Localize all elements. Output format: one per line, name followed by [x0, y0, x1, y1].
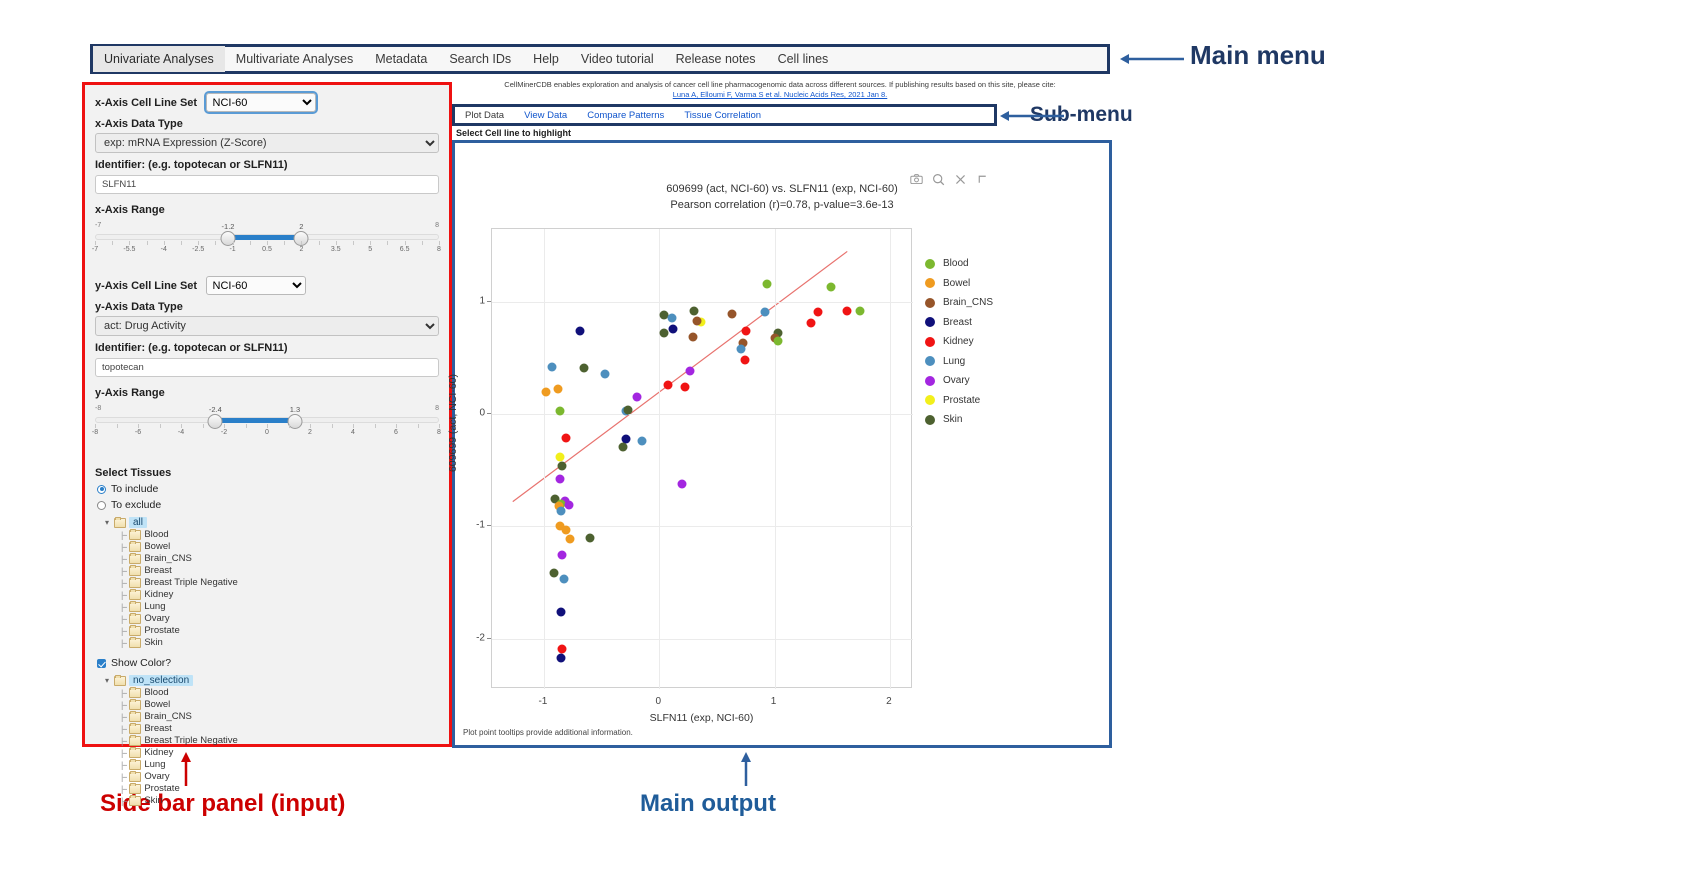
scatter-point[interactable]: [814, 308, 823, 317]
legend-item-breast[interactable]: Breast: [925, 317, 993, 328]
slider-scale-label: -4: [161, 246, 167, 253]
plot-title: 609699 (act, NCI-60) vs. SLFN11 (exp, NC…: [455, 183, 1109, 195]
slider-scale-label: 0.5: [262, 246, 272, 253]
legend-color-dot: [925, 415, 935, 425]
scatter-point[interactable]: [565, 501, 574, 510]
scatter-point[interactable]: [542, 387, 551, 396]
tree-node-label: Ovary: [144, 613, 169, 625]
y-axis-tick-label: -2: [455, 632, 485, 643]
slider-tickmark: [181, 424, 182, 428]
submenu-item-tissue-correlation[interactable]: Tissue Correlation: [674, 110, 771, 121]
y-axis-tick-label: -1: [455, 520, 485, 531]
legend-color-dot: [925, 337, 935, 347]
tree-branch-icon: |--: [121, 699, 126, 711]
menu-item-univariate-analyses[interactable]: Univariate Analyses: [93, 46, 225, 72]
tree-node-label: Kidney: [144, 747, 173, 759]
scatter-point[interactable]: [561, 525, 570, 534]
tree-node-kidney[interactable]: |--Kidney: [121, 589, 439, 601]
folder-icon: [129, 748, 141, 758]
tree-node-label: Breast: [144, 565, 171, 577]
y-axis-tickmark: [487, 525, 491, 526]
slider-tickmark: [301, 241, 302, 245]
scatter-point[interactable]: [740, 356, 749, 365]
tree-node-label: Brain_CNS: [144, 711, 192, 723]
slider-scale-label: 3.5: [331, 246, 341, 253]
slider-tickmark: [164, 241, 165, 245]
scatter-point[interactable]: [586, 533, 595, 542]
slider-scale-label: -2.5: [192, 246, 204, 253]
tree-branch-icon: |--: [121, 747, 126, 759]
scatter-point[interactable]: [550, 569, 559, 578]
slider-tickmark: [310, 424, 311, 428]
scatter-point[interactable]: [762, 279, 771, 288]
radio-include-label: To include: [111, 483, 158, 495]
scatter-point[interactable]: [557, 506, 566, 515]
folder-icon: [129, 566, 141, 576]
tree-node-ovary[interactable]: |--Ovary: [121, 771, 439, 783]
tree-node-ovary[interactable]: |--Ovary: [121, 613, 439, 625]
scatter-point[interactable]: [556, 452, 565, 461]
expander-icon[interactable]: ▾: [103, 677, 111, 685]
y-datatype-select[interactable]: act: Drug Activity: [95, 316, 439, 336]
slider-tickmark: [215, 241, 216, 245]
tree-node-breast[interactable]: |--Breast: [121, 565, 439, 577]
tree-node-label: Breast: [144, 723, 171, 735]
x-axis-tick-label: 0: [655, 696, 661, 707]
slider-scale-label: 6: [394, 429, 398, 436]
legend-item-ovary[interactable]: Ovary: [925, 375, 993, 386]
legend-item-prostate[interactable]: Prostate: [925, 395, 993, 406]
slider-scale-label: 0: [265, 429, 269, 436]
scatter-point[interactable]: [633, 393, 642, 402]
select-tissues-title: Select Tissues: [95, 467, 439, 479]
y-range-max-label: 8: [435, 405, 439, 412]
scatter-point[interactable]: [547, 363, 556, 372]
y-range-min-label: -8: [95, 405, 101, 412]
folder-icon: [129, 530, 141, 540]
folder-icon: [129, 796, 141, 806]
slider-tickmark: [387, 241, 388, 245]
plot-legend[interactable]: BloodBowelBrain_CNSBreastKidneyLungOvary…: [925, 258, 993, 434]
folder-icon: [129, 724, 141, 734]
annotation-main-output: Main output: [640, 790, 776, 818]
submenu-item-plot-data[interactable]: Plot Data: [455, 110, 514, 121]
slider-scale-label: -4: [178, 429, 184, 436]
scatter-point[interactable]: [761, 308, 770, 317]
folder-icon: [129, 772, 141, 782]
slider-scale-label: 8: [437, 246, 441, 253]
checkbox-icon[interactable]: [97, 659, 106, 668]
scatter-point[interactable]: [580, 364, 589, 373]
scatter-point[interactable]: [553, 385, 562, 394]
y-axis-label: 609699 (act, NCI-60): [447, 374, 459, 472]
slider-scale-label: -5.5: [123, 246, 135, 253]
submenu-item-view-data[interactable]: View Data: [514, 110, 577, 121]
scatter-point[interactable]: [686, 367, 695, 376]
slider-tickmark: [129, 241, 130, 245]
legend-item-bowel[interactable]: Bowel: [925, 278, 993, 289]
legend-item-blood[interactable]: Blood: [925, 258, 993, 269]
scatter-point[interactable]: [667, 313, 676, 322]
y-slider-scale: -8-6-4-202468: [95, 429, 439, 441]
radio-exclude-label: To exclude: [111, 499, 161, 511]
slider-tickmark: [160, 424, 161, 428]
x-slider-fill: [228, 235, 301, 240]
y-axis-tickmark: [487, 638, 491, 639]
slider-tickmark: [332, 424, 333, 428]
folder-icon: [129, 590, 141, 600]
slider-tickmark: [370, 241, 371, 245]
scatter-point[interactable]: [689, 306, 698, 315]
slider-tickmark: [95, 241, 96, 245]
tree-node-skin[interactable]: |--Skin: [121, 637, 439, 649]
arrow-sub-menu: [1000, 105, 1066, 127]
tree-node-breast[interactable]: |--Breast: [121, 723, 439, 735]
scatter-point[interactable]: [688, 332, 697, 341]
scatter-point[interactable]: [727, 310, 736, 319]
tree-node-kidney[interactable]: |--Kidney: [121, 747, 439, 759]
tree-branch-icon: |--: [121, 577, 126, 589]
scatter-point[interactable]: [558, 551, 567, 560]
scatter-point[interactable]: [774, 337, 783, 346]
folder-icon: [114, 518, 126, 528]
submenu-item-compare-patterns[interactable]: Compare Patterns: [577, 110, 674, 121]
citation-text: CellMinerCDB enables exploration and ana…: [455, 80, 1105, 89]
radio-to-include[interactable]: To include: [97, 483, 439, 495]
slider-scale-label: 4: [351, 429, 355, 436]
tree-node-breast-triple-negative[interactable]: |--Breast Triple Negative: [121, 735, 439, 747]
y-slider-fill: [215, 418, 295, 423]
tissue-tree[interactable]: ▾ all |--Blood|--Bowel|--Brain_CNS|--Bre…: [103, 517, 439, 649]
scatter-point[interactable]: [669, 324, 678, 333]
slider-tickmark: [198, 241, 199, 245]
x-range-slider[interactable]: -7 8 -1.2 2 -7-5.5-4-2.5-10.523.556.58: [95, 222, 439, 262]
x-slider-high-value: 2: [299, 222, 303, 231]
slider-tickmark: [284, 241, 285, 245]
scatter-point[interactable]: [556, 475, 565, 484]
slider-tickmark: [203, 424, 204, 428]
slider-tickmark: [439, 424, 440, 428]
x-range-label: x-Axis Range: [95, 204, 439, 216]
legend-color-dot: [925, 259, 935, 269]
folder-icon: [129, 700, 141, 710]
color-tree-root[interactable]: ▾ no_selection: [103, 675, 439, 686]
tree-branch-icon: |--: [121, 625, 126, 637]
folder-icon: [129, 688, 141, 698]
scatter-point[interactable]: [558, 461, 567, 470]
y-slider-high-value: 1.3: [290, 405, 300, 414]
folder-icon: [129, 760, 141, 770]
tree-node-blood[interactable]: |--Blood: [121, 529, 439, 541]
tree-node-label: Breast Triple Negative: [144, 735, 237, 747]
scatter-point[interactable]: [827, 283, 836, 292]
y-cellline-set-label: y-Axis Cell Line Set: [95, 280, 197, 292]
slider-tickmark: [181, 241, 182, 245]
sub-menu-bar: Plot DataView DataCompare PatternsTissue…: [452, 104, 997, 126]
folder-icon: [129, 554, 141, 564]
tree-node-prostate[interactable]: |--Prostate: [121, 783, 439, 795]
slider-tickmark: [224, 424, 225, 428]
legend-color-dot: [925, 395, 935, 405]
slider-scale-label: -8: [92, 429, 98, 436]
tree-branch-icon: |--: [121, 783, 126, 795]
legend-label: Ovary: [943, 375, 970, 386]
color-tree-root-label: no_selection: [129, 675, 193, 686]
slider-tickmark: [353, 241, 354, 245]
tree-node-label: Lung: [144, 759, 165, 771]
gridline-horizontal: [492, 639, 913, 640]
slider-tickmark: [95, 424, 96, 428]
folder-icon: [129, 712, 141, 722]
slider-scale-label: -7: [92, 246, 98, 253]
slider-tickmark: [267, 241, 268, 245]
tree-node-bowel[interactable]: |--Bowel: [121, 699, 439, 711]
legend-label: Skin: [943, 414, 962, 425]
tree-node-bowel[interactable]: |--Bowel: [121, 541, 439, 553]
scatter-point[interactable]: [637, 437, 646, 446]
x-axis-tick-label: 2: [886, 696, 892, 707]
legend-label: Prostate: [943, 395, 980, 406]
y-range-slider[interactable]: -8 8 -2.4 1.3 -8-6-4-202468: [95, 405, 439, 445]
tree-node-label: Bowel: [144, 699, 170, 711]
y-axis-tickmark: [487, 301, 491, 302]
slider-tickmark: [289, 424, 290, 428]
show-color-row[interactable]: Show Color?: [97, 657, 439, 669]
slider-scale-label: 6.5: [400, 246, 410, 253]
plot-canvas[interactable]: [491, 228, 912, 688]
legend-color-dot: [925, 298, 935, 308]
folder-icon: [129, 542, 141, 552]
x-identifier-input[interactable]: [95, 175, 439, 194]
folder-icon: [129, 602, 141, 612]
plot-footer-note: Plot point tooltips provide additional i…: [463, 728, 633, 737]
x-cellline-set-select[interactable]: NCI-60: [206, 93, 316, 112]
scatter-point[interactable]: [557, 653, 566, 662]
slider-scale-label: -2: [221, 429, 227, 436]
tree-node-lung[interactable]: |--Lung: [121, 759, 439, 771]
folder-icon: [129, 614, 141, 624]
slider-tickmark: [396, 424, 397, 428]
scatter-point[interactable]: [678, 479, 687, 488]
folder-icon: [129, 578, 141, 588]
legend-item-lung[interactable]: Lung: [925, 356, 993, 367]
gridline-vertical: [890, 229, 891, 689]
tree-node-label: Kidney: [144, 589, 173, 601]
y-datatype-label: y-Axis Data Type: [95, 301, 439, 313]
slider-scale-label: 5: [368, 246, 372, 253]
x-cellline-set-label: x-Axis Cell Line Set: [95, 97, 197, 109]
slider-scale-label: -6: [135, 429, 141, 436]
tree-node-label: Breast Triple Negative: [144, 577, 237, 589]
gridline-vertical: [659, 229, 660, 689]
legend-item-brain-cns[interactable]: Brain_CNS: [925, 297, 993, 308]
gridline-vertical: [775, 229, 776, 689]
sidebar-panel: x-Axis Cell Line Set NCI-60 x-Axis Data …: [82, 82, 452, 747]
highlight-label: Select Cell line to highlight: [456, 128, 571, 138]
slider-tickmark: [439, 241, 440, 245]
legend-label: Kidney: [943, 336, 974, 347]
tree-branch-icon: |--: [121, 565, 126, 577]
expander-icon[interactable]: ▾: [103, 519, 111, 527]
scatter-point[interactable]: [659, 329, 668, 338]
scatter-point[interactable]: [737, 345, 746, 354]
tree-branch-icon: |--: [121, 541, 126, 553]
legend-label: Blood: [943, 258, 969, 269]
scatter-point[interactable]: [693, 317, 702, 326]
legend-item-kidney[interactable]: Kidney: [925, 336, 993, 347]
citation-link[interactable]: Luna A, Elloumi F, Varma S et al. Nuclei…: [455, 90, 1105, 99]
menu-item-video-tutorial[interactable]: Video tutorial: [570, 46, 665, 72]
legend-color-dot: [925, 376, 935, 386]
legend-label: Brain_CNS: [943, 297, 993, 308]
legend-label: Breast: [943, 317, 972, 328]
x-axis-tick-label: -1: [538, 696, 547, 707]
scatter-point[interactable]: [566, 534, 575, 543]
tree-node-label: Skin: [144, 795, 162, 807]
tree-branch-icon: |--: [121, 711, 126, 723]
scatter-point[interactable]: [855, 306, 864, 315]
main-output-panel: 609699 (act, NCI-60) vs. SLFN11 (exp, NC…: [452, 140, 1112, 748]
tree-branch-icon: |--: [121, 687, 126, 699]
scatter-point[interactable]: [807, 319, 816, 328]
scatter-point[interactable]: [680, 383, 689, 392]
slider-tickmark: [250, 241, 251, 245]
folder-icon: [129, 784, 141, 794]
radio-include-icon[interactable]: [97, 485, 106, 494]
y-identifier-input[interactable]: [95, 358, 439, 377]
y-range-label: y-Axis Range: [95, 387, 439, 399]
tree-branch-icon: |--: [121, 637, 126, 649]
scatter-point[interactable]: [559, 575, 568, 584]
folder-icon: [129, 736, 141, 746]
scatter-point[interactable]: [561, 433, 570, 442]
tree-node-lung[interactable]: |--Lung: [121, 601, 439, 613]
legend-color-dot: [925, 356, 935, 366]
legend-color-dot: [925, 317, 935, 327]
plot-subtitle: Pearson correlation (r)=0.78, p-value=3.…: [455, 199, 1109, 211]
scatter-plot: 609699 (act, NCI-60) vs. SLFN11 (exp, NC…: [455, 163, 1109, 703]
tree-node-prostate[interactable]: |--Prostate: [121, 625, 439, 637]
slider-tickmark: [267, 424, 268, 428]
tree-node-brain-cns[interactable]: |--Brain_CNS: [121, 553, 439, 565]
tree-node-label: Skin: [144, 637, 162, 649]
scatter-point[interactable]: [624, 405, 633, 414]
x-datatype-select[interactable]: exp: mRNA Expression (Z-Score): [95, 133, 439, 153]
tree-branch-icon: |--: [121, 771, 126, 783]
menu-item-metadata[interactable]: Metadata: [364, 46, 438, 72]
scatter-point[interactable]: [558, 644, 567, 653]
menu-item-cell-lines[interactable]: Cell lines: [767, 46, 840, 72]
scatter-point[interactable]: [575, 327, 584, 336]
main-menu-bar: Univariate AnalysesMultivariate Analyses…: [90, 44, 1110, 74]
radio-exclude-icon[interactable]: [97, 501, 106, 510]
folder-icon: [129, 626, 141, 636]
tree-branch-icon: |--: [121, 553, 126, 565]
tree-branch-icon: |--: [121, 601, 126, 613]
tree-node-label: Blood: [144, 529, 168, 541]
legend-label: Lung: [943, 356, 965, 367]
color-tree[interactable]: ▾ no_selection |--Blood|--Bowel|--Brain_…: [103, 675, 439, 807]
slider-tickmark: [147, 241, 148, 245]
menu-item-release-notes[interactable]: Release notes: [665, 46, 767, 72]
menu-item-search-ids[interactable]: Search IDs: [438, 46, 522, 72]
tree-node-brain-cns[interactable]: |--Brain_CNS: [121, 711, 439, 723]
tree-branch-icon: |--: [121, 589, 126, 601]
y-axis-tick-label: 1: [455, 295, 485, 306]
scatter-point[interactable]: [664, 380, 673, 389]
legend-item-skin[interactable]: Skin: [925, 414, 993, 425]
scatter-point[interactable]: [741, 327, 750, 336]
tree-node-label: Lung: [144, 601, 165, 613]
slider-scale-label: 2: [308, 429, 312, 436]
slider-tickmark: [233, 241, 234, 245]
slider-scale-label: -1: [229, 246, 235, 253]
gridline-vertical: [544, 229, 545, 689]
folder-icon: [114, 676, 126, 686]
tree-node-label: Prostate: [144, 783, 179, 795]
x-axis-tick-label: 1: [771, 696, 777, 707]
tree-node-breast-triple-negative[interactable]: |--Breast Triple Negative: [121, 577, 439, 589]
radio-to-exclude[interactable]: To exclude: [97, 499, 439, 511]
scatter-point[interactable]: [601, 369, 610, 378]
tree-branch-icon: |--: [121, 735, 126, 747]
tree-branch-icon: |--: [121, 795, 126, 807]
menu-item-multivariate-analyses[interactable]: Multivariate Analyses: [225, 46, 364, 72]
y-identifier-label: Identifier: (e.g. topotecan or SLFN11): [95, 342, 439, 354]
annotation-main-menu: Main menu: [1190, 40, 1326, 71]
tissue-tree-root-label: all: [129, 517, 147, 528]
slider-scale-label: 2: [299, 246, 303, 253]
arrow-main-menu: [1120, 48, 1186, 70]
y-cellline-set-select[interactable]: NCI-60: [206, 276, 306, 295]
tree-node-label: Ovary: [144, 771, 169, 783]
scatter-point[interactable]: [843, 306, 852, 315]
scatter-point[interactable]: [557, 607, 566, 616]
tree-branch-icon: |--: [121, 613, 126, 625]
show-color-label: Show Color?: [111, 657, 171, 669]
x-slider-low-value: -1.2: [222, 222, 235, 231]
scatter-point[interactable]: [556, 406, 565, 415]
tree-branch-icon: |--: [121, 529, 126, 541]
y-slider-low-value: -2.4: [209, 405, 222, 414]
arrow-main-output: [735, 752, 757, 788]
tree-node-label: Bowel: [144, 541, 170, 553]
tree-branch-icon: |--: [121, 723, 126, 735]
gridline-horizontal: [492, 302, 913, 303]
menu-item-help[interactable]: Help: [522, 46, 570, 72]
scatter-point[interactable]: [619, 442, 628, 451]
gridline-horizontal: [492, 414, 913, 415]
tree-node-skin[interactable]: |--Skin: [121, 795, 439, 807]
tree-node-label: Blood: [144, 687, 168, 699]
tree-node-blood[interactable]: |--Blood: [121, 687, 439, 699]
x-datatype-label: x-Axis Data Type: [95, 118, 439, 130]
tissue-tree-root[interactable]: ▾ all: [103, 517, 439, 528]
y-axis-tickmark: [487, 413, 491, 414]
tree-node-label: Prostate: [144, 625, 179, 637]
slider-tickmark: [319, 241, 320, 245]
tree-node-label: Brain_CNS: [144, 553, 192, 565]
slider-tickmark: [246, 424, 247, 428]
slider-tickmark: [422, 241, 423, 245]
slider-tickmark: [138, 424, 139, 428]
legend-color-dot: [925, 278, 935, 288]
main-menu-list: Univariate AnalysesMultivariate Analyses…: [93, 47, 1107, 71]
x-range-min-label: -7: [95, 222, 101, 229]
slider-tickmark: [336, 241, 337, 245]
x-axis-label: SLFN11 (exp, NCI-60): [491, 712, 912, 724]
x-range-max-label: 8: [435, 222, 439, 229]
